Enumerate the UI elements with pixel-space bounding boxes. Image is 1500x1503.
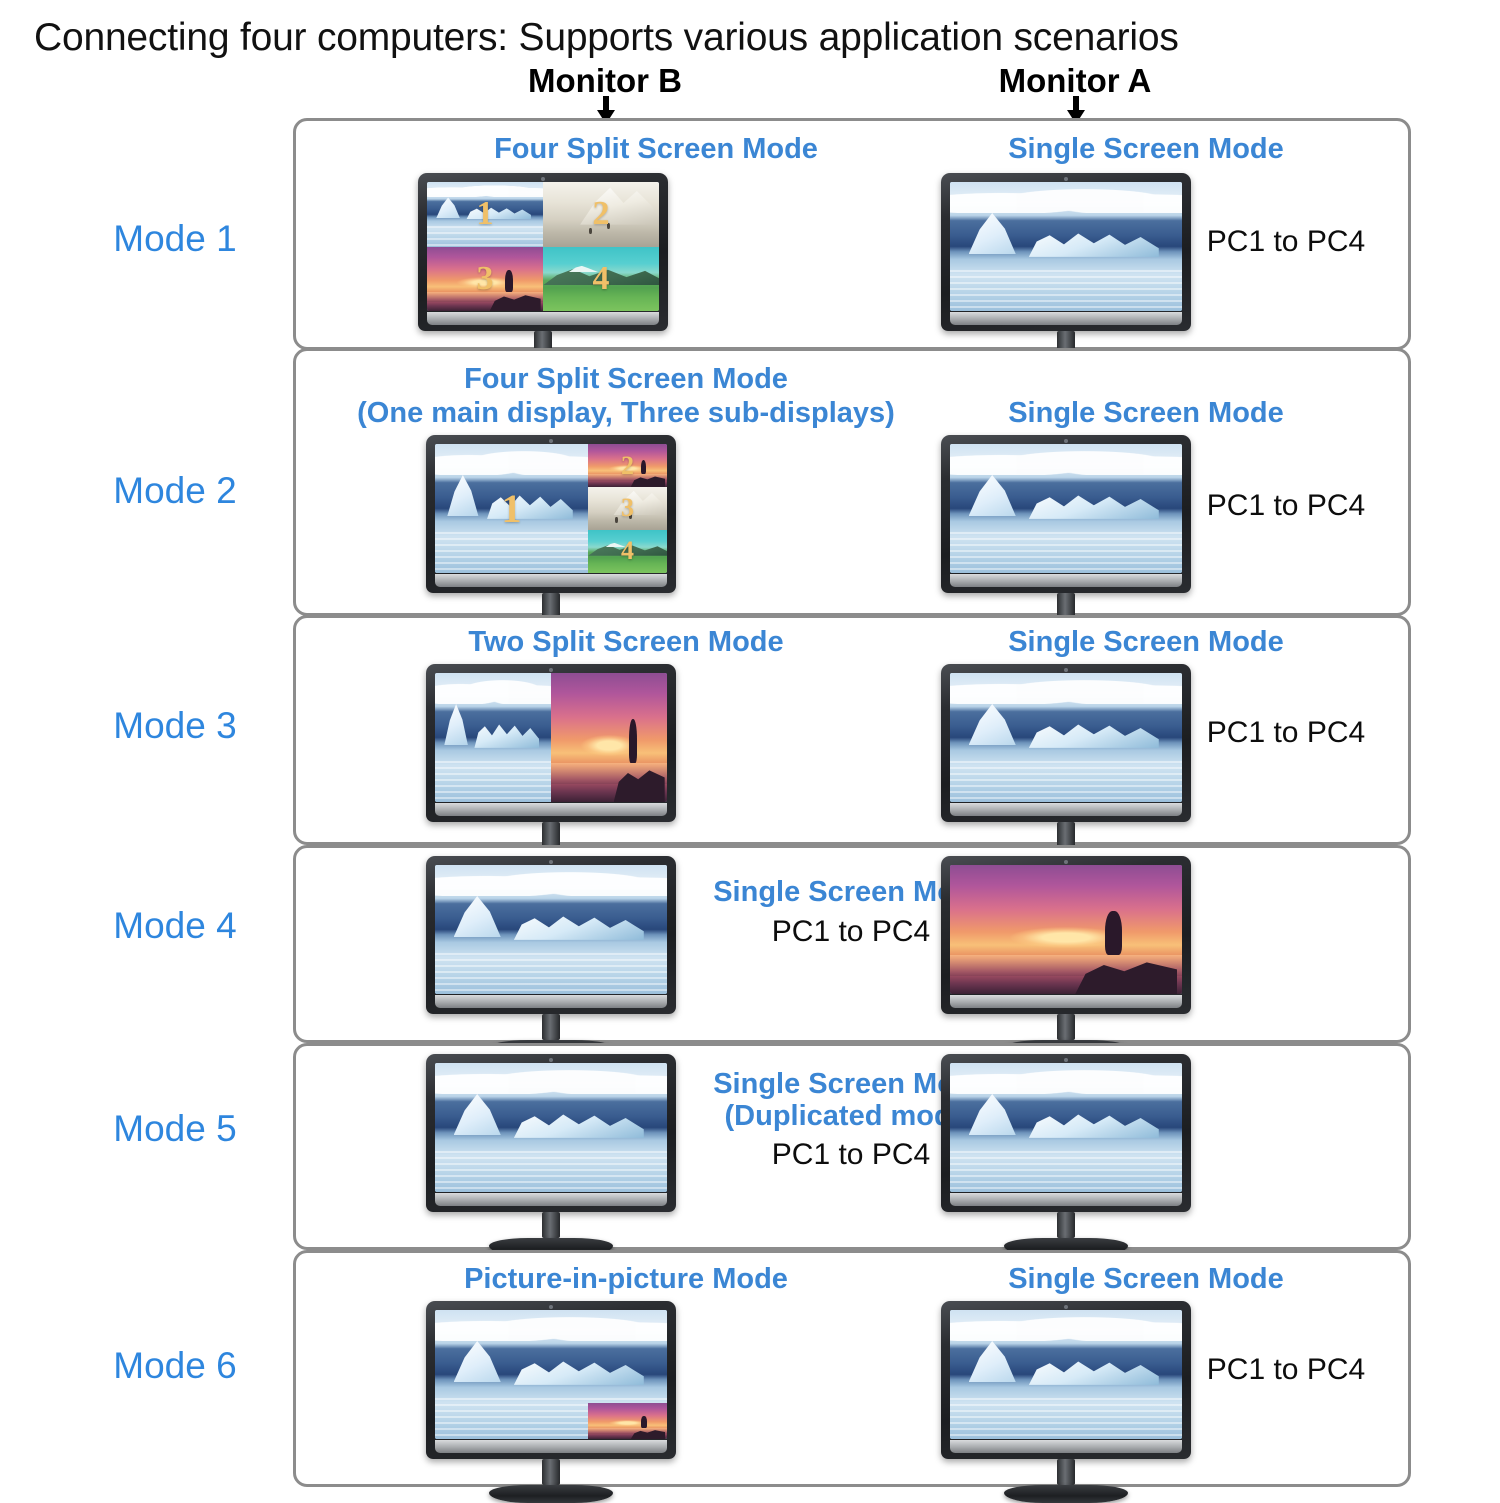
mode-label-6: Mode 6 [60,1345,290,1387]
mode-label-1: Mode 1 [60,218,290,260]
mode-3-monitor-b [426,664,676,822]
quadrant-number-4: 4 [588,530,667,573]
mode-3-right-title: Single Screen Mode [876,626,1416,658]
webcam-icon [549,668,553,672]
mode-6-right-title: Single Screen Mode [876,1263,1416,1295]
screen-two-split [435,673,667,802]
mode-2-pc-text: PC1 to PC4 [1156,489,1416,523]
mode-2-left-title: Four Split Screen Mode [316,363,936,395]
mode-6-monitor-a [941,1301,1191,1459]
mode-panel-3: Two Split Screen Mode Single Screen Mode… [293,615,1411,845]
screen-single [435,865,667,994]
mode-4-monitor-a [941,856,1191,1014]
mode-1-pc-text: PC1 to PC4 [1156,225,1416,259]
mode-1-monitor-a [941,173,1191,331]
monitor-a-label: Monitor A [925,62,1225,100]
mode-3-pc-text: PC1 to PC4 [1156,716,1416,750]
quadrant-number-3: 3 [427,247,543,312]
mode-2-right-title: Single Screen Mode [876,397,1416,429]
mode-panel-4: Single Screen Mode PC1 to PC4 [293,845,1411,1043]
mode-panel-6: Picture-in-picture Mode Single Screen Mo… [293,1250,1411,1487]
webcam-icon [1064,668,1068,672]
page-title: Connecting four computers: Supports vari… [34,16,1414,60]
webcam-icon [1064,1305,1068,1309]
mode-panel-5: Single Screen Mode (Duplicated mode) PC1… [293,1043,1411,1250]
mode-5-monitor-b [426,1054,676,1212]
webcam-icon [549,439,553,443]
quadrant-number-2: 2 [543,182,659,247]
mode-1-right-title: Single Screen Mode [876,133,1416,165]
mode-6-pc-text: PC1 to PC4 [1156,1353,1416,1387]
screen-single [435,1063,667,1192]
mode-2-monitor-b: 1 2 3 4 [426,435,676,593]
quadrant-number-1: 1 [435,444,588,573]
webcam-icon [549,1305,553,1309]
screen-single [950,865,1182,994]
quadrant-number-3: 3 [588,487,667,530]
mode-1-left-title: Four Split Screen Mode [386,133,926,165]
webcam-icon [1064,177,1068,181]
screen-picture-in-picture [435,1310,667,1439]
monitor-b-label: Monitor B [455,62,755,100]
mode-label-5: Mode 5 [60,1108,290,1150]
screen-single [950,1063,1182,1192]
mode-label-3: Mode 3 [60,705,290,747]
screen-main-plus-three: 1 2 3 4 [435,444,667,573]
webcam-icon [549,860,553,864]
webcam-icon [549,1058,553,1062]
mode-label-4: Mode 4 [60,905,290,947]
screen-single [950,444,1182,573]
screen-four-split: 1 2 3 4 [427,182,659,311]
screen-single [950,1310,1182,1439]
screen-single [950,673,1182,802]
mode-label-2: Mode 2 [60,470,290,512]
screen-single [950,182,1182,311]
quadrant-number-1: 1 [427,182,543,247]
webcam-icon [1064,439,1068,443]
webcam-icon [541,177,545,181]
quadrant-number-4: 4 [543,247,659,312]
mode-3-monitor-a [941,664,1191,822]
webcam-icon [1064,860,1068,864]
webcam-icon [1064,1058,1068,1062]
mode-panel-1: Four Split Screen Mode Single Screen Mod… [293,118,1411,350]
mode-4-monitor-b [426,856,676,1014]
pip-inset [588,1403,667,1439]
quadrant-number-2: 2 [588,444,667,487]
mode-6-left-title: Picture-in-picture Mode [356,1263,896,1295]
mode-2-left-subtitle: (One main display, Three sub-displays) [296,397,956,429]
mode-5-monitor-a [941,1054,1191,1212]
mode-2-monitor-a [941,435,1191,593]
mode-panel-2: Four Split Screen Mode (One main display… [293,348,1411,616]
mode-3-left-title: Two Split Screen Mode [356,626,896,658]
mode-6-monitor-b [426,1301,676,1459]
mode-1-monitor-b: 1 2 3 4 [418,173,668,331]
